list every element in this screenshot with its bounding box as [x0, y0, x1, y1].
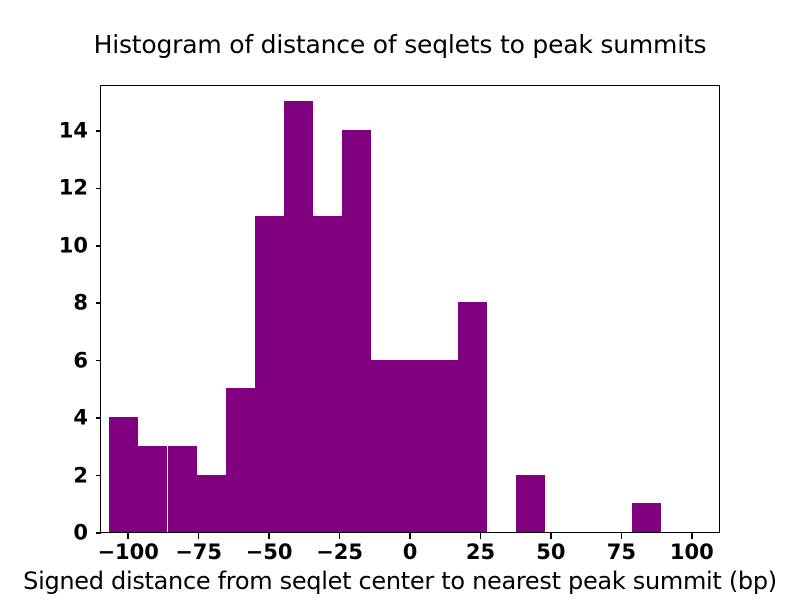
- x-tick-label: −25: [316, 542, 363, 563]
- y-tick-label: 2: [73, 465, 88, 486]
- histogram-bar: [632, 503, 661, 532]
- x-tick-mark: [691, 533, 693, 539]
- y-tick-label: 14: [59, 120, 88, 141]
- histogram-bar: [168, 446, 197, 532]
- y-tick-mark: [96, 245, 101, 247]
- histogram-bars: [101, 86, 719, 532]
- histogram-bar: [516, 475, 545, 532]
- histogram-bar: [138, 446, 167, 532]
- x-tick-mark: [268, 533, 270, 539]
- y-tick-label: 0: [73, 523, 88, 544]
- y-tick-mark: [96, 188, 101, 190]
- histogram-bar: [197, 475, 226, 532]
- x-tick-mark: [621, 533, 623, 539]
- x-tick-mark: [550, 533, 552, 539]
- x-tick-label: 75: [607, 542, 636, 563]
- histogram-bar: [313, 216, 342, 532]
- y-tick-label: 6: [73, 350, 88, 371]
- x-tick-label: −100: [97, 542, 158, 563]
- histogram-bar: [371, 360, 400, 532]
- x-tick-label: 50: [536, 542, 565, 563]
- plot-area: [100, 85, 720, 533]
- x-tick-label: 100: [670, 542, 714, 563]
- y-tick-mark: [96, 417, 101, 419]
- histogram-bar: [255, 216, 284, 532]
- x-tick-mark: [409, 533, 411, 539]
- x-tick-label: −75: [175, 542, 222, 563]
- x-tick-mark: [127, 533, 129, 539]
- y-tick-mark: [96, 130, 101, 132]
- y-tick-mark: [96, 475, 101, 477]
- histogram-bar: [458, 302, 487, 532]
- histogram-figure: Histogram of distance of seqlets to peak…: [0, 0, 800, 600]
- y-tick-mark: [96, 532, 101, 534]
- x-tick-label: 25: [466, 542, 495, 563]
- y-tick-mark: [96, 360, 101, 362]
- y-tick-label: 8: [73, 293, 88, 314]
- histogram-bar: [342, 130, 371, 532]
- x-tick-mark: [339, 533, 341, 539]
- histogram-bar: [429, 360, 458, 532]
- x-tick-label: −50: [246, 542, 293, 563]
- x-tick-mark: [480, 533, 482, 539]
- y-tick-label: 10: [59, 235, 88, 256]
- y-tick-label: 12: [59, 178, 88, 199]
- x-tick-mark: [198, 533, 200, 539]
- histogram-bar: [226, 388, 255, 532]
- y-tick-mark: [96, 302, 101, 304]
- x-axis-label: Signed distance from seqlet center to ne…: [0, 567, 800, 595]
- chart-title: Histogram of distance of seqlets to peak…: [0, 30, 800, 59]
- y-tick-label: 4: [73, 408, 88, 429]
- x-tick-label: 0: [403, 542, 418, 563]
- histogram-bar: [109, 417, 138, 532]
- histogram-bar: [400, 360, 429, 532]
- histogram-bar: [284, 101, 313, 532]
